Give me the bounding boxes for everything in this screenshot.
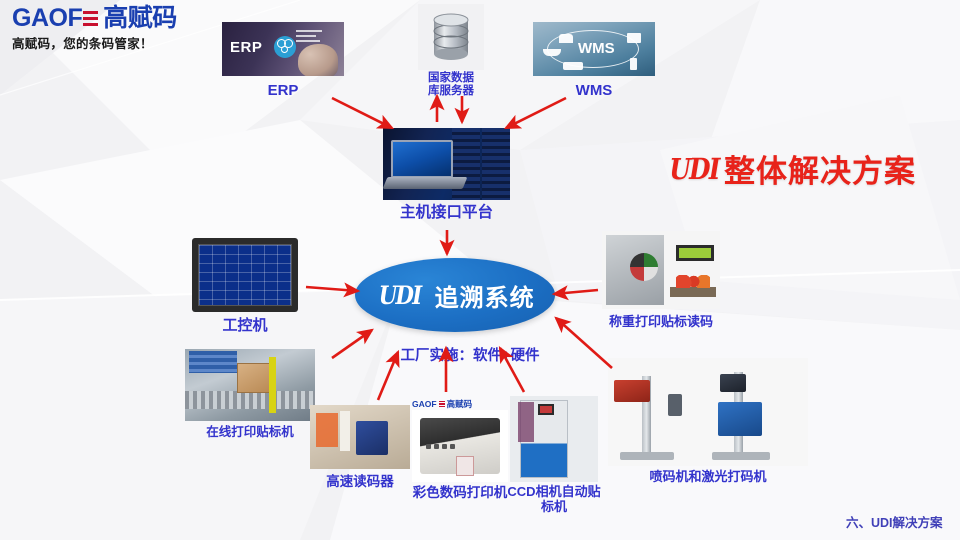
server-rack-laptop-photo — [383, 128, 510, 200]
printed-label-shape — [456, 456, 474, 476]
node-national-database: 国家数据 库服务器 — [418, 4, 484, 98]
weigh-print-label-photo — [602, 231, 720, 309]
marker-base-shape — [620, 452, 674, 460]
core-label: 追溯系统 — [435, 278, 535, 313]
laptop-screen-shape — [391, 140, 453, 178]
title-text: 整体解决方案 — [724, 146, 916, 191]
produce-shape — [676, 275, 710, 288]
label-reel-shape — [630, 253, 658, 281]
erp-photo: ERP — [222, 22, 344, 76]
ccd-caption: CCD相机自动贴标机 — [502, 485, 606, 514]
marker-base-shape — [712, 452, 770, 460]
inkjet-head-shape — [614, 380, 650, 402]
wms-image-label: WMS — [578, 40, 615, 57]
watermark-bars-icon — [439, 401, 445, 408]
wms-monitor-icon — [627, 33, 641, 43]
safety-rail-shape — [269, 357, 276, 413]
slide-canvas: GAOF 高赋码 高赋码，您的条码管家！ ERP ERP — [0, 0, 960, 540]
node-wms: WMS WMS — [533, 22, 655, 100]
erp-image-label: ERP — [230, 39, 262, 56]
reader-caption: 高速读码器 — [310, 474, 410, 489]
server-rack-icon — [482, 128, 510, 200]
color-digital-printer-photo — [412, 410, 508, 482]
high-speed-scanner-photo — [310, 405, 410, 469]
node-high-speed-reader: 高速读码器 — [310, 405, 410, 489]
laser-body-shape — [718, 402, 762, 436]
node-erp: ERP ERP — [222, 22, 344, 100]
scanner-panel-shape — [316, 413, 338, 447]
wms-ship-icon — [543, 49, 561, 56]
watermark-latin: GAOF — [412, 399, 437, 409]
pallet-stack-shape — [189, 351, 237, 373]
node-online-labeler: 在线打印贴标机 — [185, 349, 315, 439]
wms-people-icon — [559, 34, 573, 43]
node-industrial-pc: 工控机 — [192, 238, 298, 335]
printer-buttons-icon — [426, 444, 455, 449]
page-title: UDI 整体解决方案 — [665, 146, 916, 191]
hmi-caption: 工控机 — [192, 318, 298, 335]
conveyor-labeler-photo — [185, 349, 315, 421]
wms-truck-icon — [563, 62, 583, 70]
node-weigh-print-label: 称重打印贴标读码 — [602, 231, 720, 330]
logo-wordmark: GAOF 高赋码 — [12, 6, 192, 31]
erp-circles-icon — [274, 36, 296, 58]
hmi-screen-shape — [198, 244, 292, 306]
node-inkjet-laser-marker: 喷码机和激光打码机 — [608, 358, 808, 485]
conveyor-shape — [185, 391, 315, 409]
node-host-interface-platform: 主机接口平台 — [383, 128, 510, 221]
ccd-window-shape — [518, 402, 534, 442]
node-ccd-labeler: CCD相机自动贴标机 — [510, 396, 606, 514]
factory-implementation-note: 工厂实施：软件+硬件 — [370, 344, 570, 365]
online-labeler-caption: 在线打印贴标机 — [185, 425, 315, 439]
server-rack-icon — [452, 128, 480, 200]
laptop-base-shape — [383, 177, 467, 189]
erp-caption: ERP — [222, 83, 344, 100]
scale-platform-shape — [670, 287, 716, 297]
logo-bars-icon — [83, 11, 98, 27]
laser-hmi-shape — [720, 374, 746, 392]
printer-watermark-logo: GAOF 高赋码 — [412, 398, 508, 410]
brand-logo: GAOF 高赋码 高赋码，您的条码管家！ — [12, 6, 192, 54]
title-udi-mark: UDI — [669, 152, 718, 186]
brand-tagline: 高赋码，您的条码管家！ — [12, 33, 192, 52]
ccd-auto-labeler-photo — [510, 396, 598, 482]
database-caption: 国家数据 库服务器 — [418, 72, 484, 98]
wms-photo: WMS — [533, 22, 655, 76]
weigh-caption: 称重打印贴标读码 — [602, 315, 720, 330]
wms-caption: WMS — [533, 83, 655, 100]
carton-box-shape — [237, 363, 271, 393]
inkjet-controller-shape — [668, 394, 682, 416]
wms-phone-icon — [630, 58, 637, 70]
database-cylinder-icon — [418, 4, 484, 70]
industrial-panel-pc-photo — [192, 238, 298, 312]
watermark-cn: 高赋码 — [447, 398, 473, 410]
scanner-device-shape — [356, 421, 388, 455]
erp-lines-icon — [296, 30, 322, 45]
erp-hand-shape — [298, 44, 338, 76]
ccd-hmi-screen-shape — [538, 404, 554, 415]
inkjet-laser-marker-photo — [608, 358, 808, 466]
logo-chinese-text: 高赋码 — [103, 6, 177, 31]
color-printer-caption: 彩色数码打印机 — [412, 485, 508, 500]
core-udi-mark: UDI — [379, 281, 421, 310]
logo-latin-text: GAOF — [12, 6, 82, 31]
scale-display-shape — [676, 245, 714, 261]
laser-caption: 喷码机和激光打码机 — [608, 470, 808, 485]
slide-footer: 六、UDI解决方案 — [846, 512, 943, 531]
core-traceability-system: UDI 追溯系统 — [355, 258, 555, 332]
node-color-digital-printer: GAOF 高赋码 彩色数码打印机 — [412, 398, 508, 500]
scanner-panel-shape — [340, 411, 350, 451]
host-caption: 主机接口平台 — [383, 204, 510, 221]
